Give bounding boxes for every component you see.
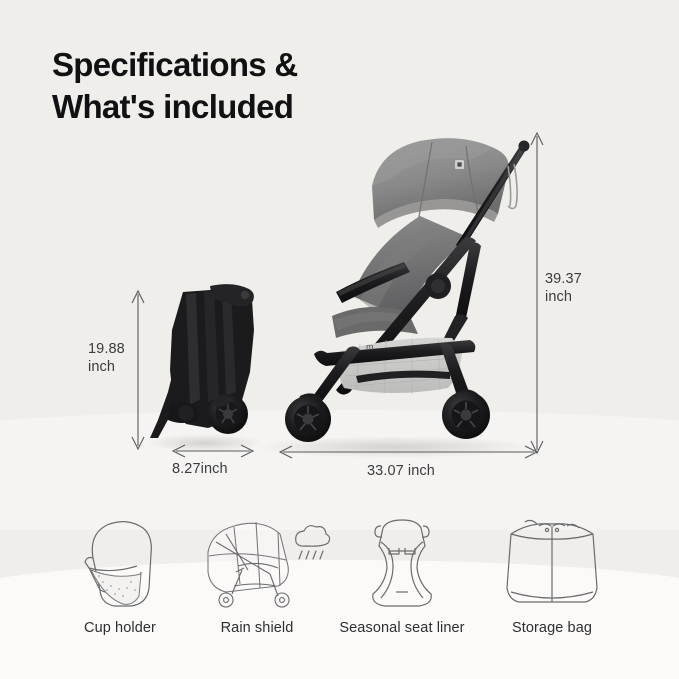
dimension-label-height-folded: 19.88 inch	[88, 341, 125, 376]
storage-bag-icon	[477, 512, 627, 612]
cup-holder-art	[45, 512, 195, 612]
storage-bag-art	[477, 512, 627, 612]
seasonal-seat-liner-icon	[327, 512, 477, 612]
accessory-label-storage-bag: Storage bag	[477, 620, 627, 636]
dimension-arrow-height-unfolded	[531, 133, 543, 453]
rain-shield-art	[182, 512, 332, 612]
accessory-rain-shield: Rain shield	[182, 512, 332, 636]
cup-holder-icon	[45, 512, 195, 612]
accessory-label-cup-holder: Cup holder	[45, 620, 195, 636]
stroller-shadow	[255, 436, 535, 458]
folded-stroller	[150, 284, 254, 438]
rain-shield-icon	[182, 512, 332, 612]
dimension-label-width-folded: 8.27inch	[172, 461, 228, 479]
accessory-cup-holder: Cup holder	[45, 512, 195, 636]
accessory-label-seasonal-seat-liner: Seasonal seat liner	[327, 620, 477, 636]
dimension-label-height-unfolded: 39.37 inch	[545, 271, 582, 306]
accessory-seasonal-seat-liner: Seasonal seat liner	[327, 512, 477, 636]
accessory-storage-bag: Storage bag	[477, 512, 627, 636]
stroller-side-view: m	[285, 138, 530, 442]
dimension-label-length-unfolded: 33.07 inch	[367, 463, 435, 481]
svg-text:m: m	[366, 342, 374, 352]
seasonal-seat-liner-art	[327, 512, 477, 612]
dimension-arrow-height-folded	[132, 291, 144, 449]
specifications-infographic: Specifications & What's included	[0, 0, 679, 679]
accessory-label-rain-shield: Rain shield	[182, 620, 332, 636]
folded-stroller-shadow	[147, 434, 263, 452]
